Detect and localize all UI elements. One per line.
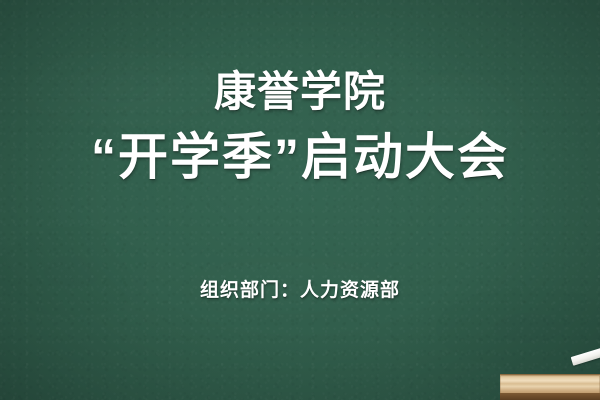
chalk-ledge-face (500, 374, 600, 394)
chalkboard-title-slide: 康誉学院 “开学季”启动大会 组织部门：人力资源部 (0, 0, 600, 400)
slide-subtitle-organizing-department: 组织部门：人力资源部 (0, 278, 600, 304)
slide-title-line-2: “开学季”启动大会 (0, 128, 600, 186)
slide-content: 康誉学院 “开学季”启动大会 组织部门：人力资源部 (0, 0, 600, 400)
slide-title-line-1: 康誉学院 (0, 68, 600, 116)
chalk-ledge-icon (500, 374, 600, 400)
chalk-ledge-front (500, 393, 600, 400)
